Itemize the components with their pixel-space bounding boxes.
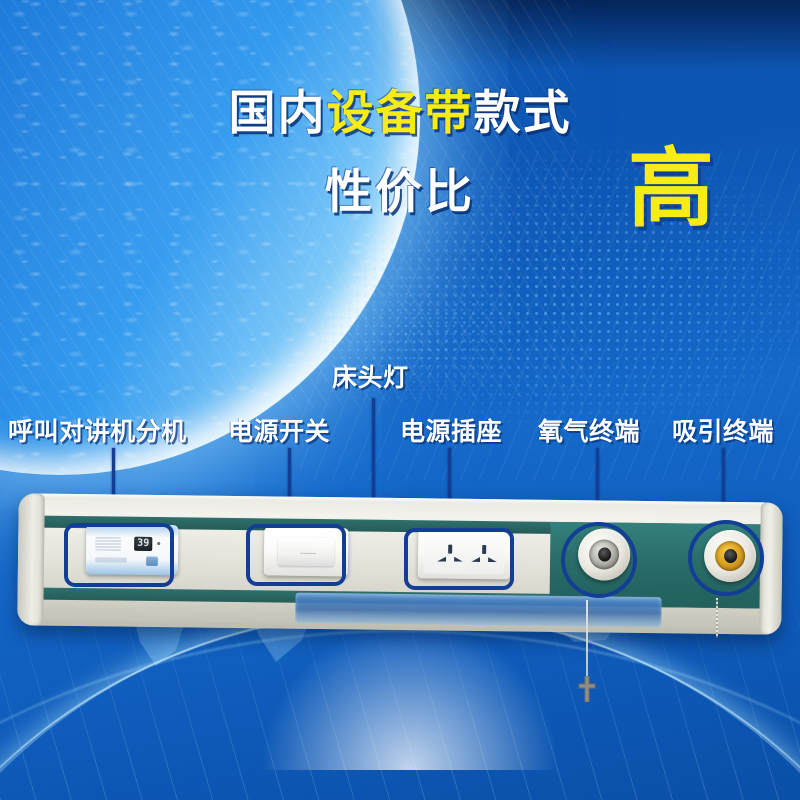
headline-text-white-a: 国内 xyxy=(229,86,327,139)
panel-end-cap-right xyxy=(759,502,783,634)
bottom-center-glow xyxy=(260,620,560,770)
headline-emphasis-gao: 高 xyxy=(628,146,714,232)
planet-graphic xyxy=(0,0,420,475)
horizon-glow xyxy=(0,610,800,800)
callout-label-bed-lamp: 床头灯 xyxy=(332,358,409,394)
horizon-arc-line-outer xyxy=(0,630,800,800)
callout-label-oxygen: 氧气终端 xyxy=(538,412,640,448)
headline-text-white-b: 款式 xyxy=(474,86,572,139)
callout-label-intercom: 呼叫对讲机分机 xyxy=(8,412,187,448)
highlight-ring-oxygen xyxy=(561,522,637,598)
planet-limb-glow xyxy=(0,0,420,475)
headline-line-1: 国内设备带款式 xyxy=(0,84,800,142)
pull-cord-pendant-icon[interactable] xyxy=(577,676,597,702)
highlight-ring-suction xyxy=(688,520,764,596)
halftone-dots-small xyxy=(250,250,550,420)
highlight-box-intercom xyxy=(64,523,174,587)
promo-banner: 国内设备带款式 性价比 高 呼叫对讲机分机 电源开关 床头灯 电源插座 氧气终端… xyxy=(0,0,800,800)
highlight-box-power-socket xyxy=(404,528,514,590)
planet-texture xyxy=(0,0,420,475)
terminal-tether-cord xyxy=(716,598,718,638)
callout-label-power-socket: 电源插座 xyxy=(400,412,502,448)
headline-text-yellow: 设备带 xyxy=(327,86,474,139)
panel-end-cap-left xyxy=(17,493,45,625)
callout-label-suction: 吸引终端 xyxy=(672,412,774,448)
highlight-box-power-switch xyxy=(246,524,346,586)
horizon-arc-line xyxy=(0,610,800,800)
headline-subtext: 性价比 xyxy=(325,165,475,218)
callout-label-power-switch: 电源开关 xyxy=(228,412,330,448)
top-vignette xyxy=(0,0,800,70)
lamp-pull-cord[interactable] xyxy=(586,600,588,682)
